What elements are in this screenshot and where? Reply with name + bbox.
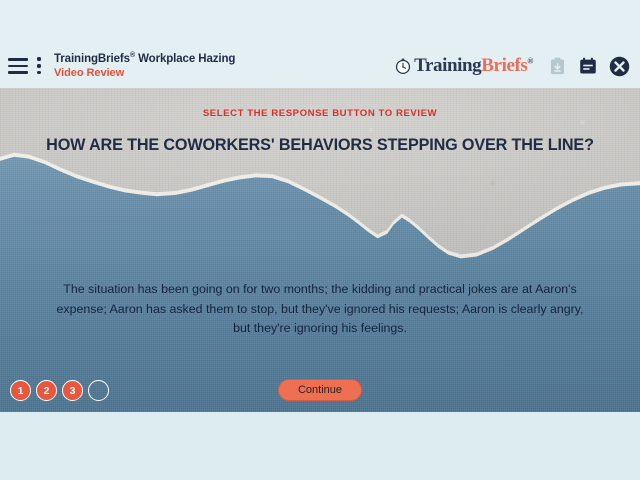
kebab-menu-icon[interactable]: [36, 57, 42, 74]
course-player: TrainingBriefs® Workplace Hazing Video R…: [0, 0, 640, 480]
hamburger-bar: [8, 65, 28, 68]
stopwatch-icon: [394, 57, 412, 75]
kebab-dot: [37, 71, 40, 74]
logo-wordmark: TrainingBriefs®: [414, 55, 533, 77]
response-button-4[interactable]: [88, 380, 109, 401]
letterbox-top: [0, 0, 640, 44]
slide-stage: SELECT THE RESPONSE BUTTON TO REVIEW HOW…: [0, 88, 640, 412]
close-icon[interactable]: [608, 55, 630, 77]
course-title-topic: Workplace Hazing: [135, 53, 235, 65]
header-right-group: TrainingBriefs®: [394, 55, 630, 77]
course-title: TrainingBriefs® Workplace Hazing: [54, 52, 235, 66]
course-subtitle: Video Review: [54, 67, 235, 80]
hamburger-icon[interactable]: [8, 58, 28, 74]
hamburger-bar: [8, 58, 28, 61]
notes-icon[interactable]: [577, 55, 599, 77]
kebab-dot: [37, 64, 40, 67]
header-left-group: TrainingBriefs® Workplace Hazing Video R…: [8, 52, 235, 79]
response-button-2[interactable]: 2: [36, 380, 57, 401]
response-button-3[interactable]: 3: [62, 380, 83, 401]
trainingbriefs-logo: TrainingBriefs®: [394, 55, 533, 77]
kebab-dot: [37, 57, 40, 60]
hamburger-bar: [8, 71, 28, 74]
close-glyph: [609, 56, 630, 77]
logo-text-training: Training: [414, 55, 481, 76]
notes-glyph: [579, 57, 597, 75]
instruction-eyebrow: SELECT THE RESPONSE BUTTON TO REVIEW: [0, 108, 640, 119]
letterbox-bottom: [0, 412, 640, 480]
slide-body-text: The situation has been going on for two …: [50, 280, 590, 339]
course-title-block: TrainingBriefs® Workplace Hazing Video R…: [54, 52, 235, 79]
continue-button[interactable]: Continue: [278, 379, 362, 401]
slide-question: HOW ARE THE COWORKERS' BEHAVIORS STEPPIN…: [0, 136, 640, 155]
logo-registered-mark: ®: [527, 57, 533, 66]
response-button-1[interactable]: 1: [10, 380, 31, 401]
clipboard-download-glyph: [549, 57, 566, 75]
response-button-group: 1 2 3: [10, 380, 109, 401]
logo-text-briefs: Briefs: [481, 55, 527, 76]
course-title-brand: TrainingBriefs: [54, 53, 130, 65]
download-resources-icon[interactable]: [546, 55, 568, 77]
player-header: TrainingBriefs® Workplace Hazing Video R…: [0, 44, 640, 88]
